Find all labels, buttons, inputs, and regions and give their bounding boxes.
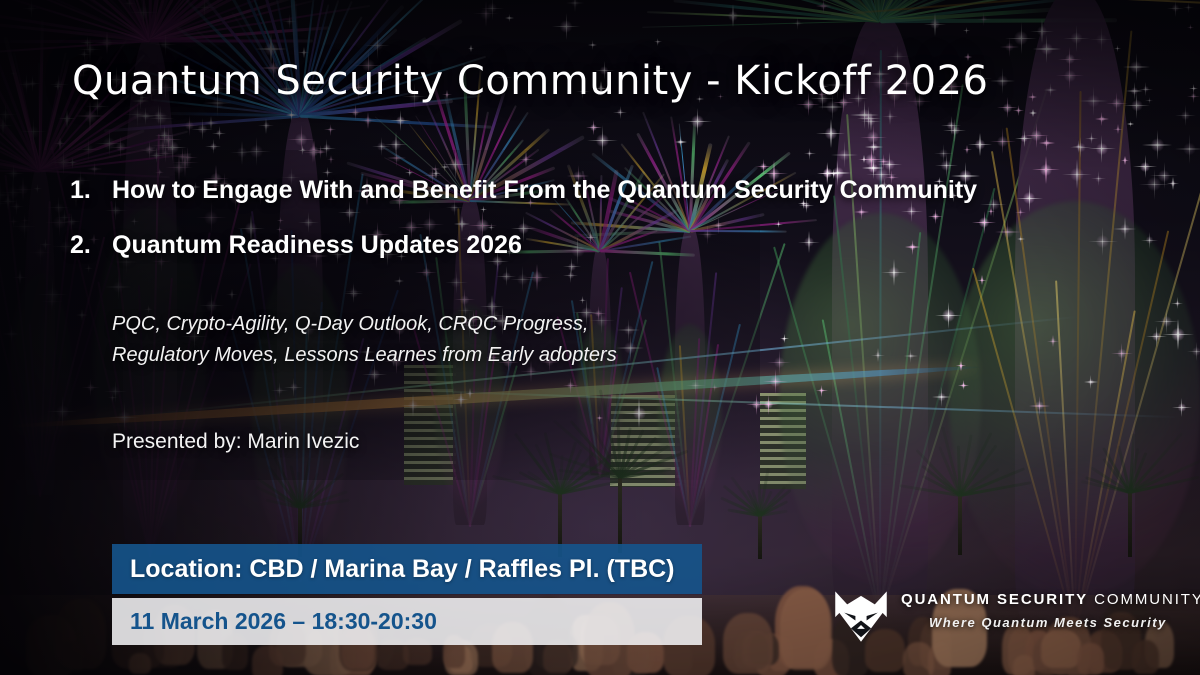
subtopics-line-1: PQC, Crypto-Agility, Q-Day Outlook, CRQC… <box>112 309 617 340</box>
agenda-list: 1. How to Engage With and Benefit From t… <box>70 176 1130 286</box>
logo-name-bold: QUANTUM SECURITY <box>901 591 1088 608</box>
logo-tagline: Where Quantum Meets Security <box>929 615 1200 630</box>
location-text: Location: CBD / Marina Bay / Raffles Pl.… <box>130 555 675 584</box>
agenda-subtopics: PQC, Crypto-Agility, Q-Day Outlook, CRQC… <box>112 309 617 371</box>
list-item-number: 2. <box>70 231 112 260</box>
presenter-credit: Presented by: Marin Ivezic <box>112 430 359 454</box>
logo-name-light: COMMUNITY <box>1094 591 1200 608</box>
presentation-slide: Quantum Security Community - Kickoff 202… <box>0 0 1200 675</box>
datetime-text: 11 March 2026 – 18:30-20:30 <box>130 608 437 635</box>
subtopics-line-2: Regulatory Moves, Lessons Learnes from E… <box>112 340 617 371</box>
list-item: 2. Quantum Readiness Updates 2026 <box>70 231 1130 260</box>
datetime-banner: 11 March 2026 – 18:30-20:30 <box>112 598 702 645</box>
wolf-head-icon <box>833 588 889 644</box>
list-item-number: 1. <box>70 176 112 205</box>
list-item-label: Quantum Readiness Updates 2026 <box>112 231 522 260</box>
page-title: Quantum Security Community - Kickoff 202… <box>72 58 988 104</box>
list-item: 1. How to Engage With and Benefit From t… <box>70 176 1130 205</box>
location-banner: Location: CBD / Marina Bay / Raffles Pl.… <box>112 544 702 594</box>
logo-wordmark: QUANTUM SECURITY COMMUNITY Where Quantum… <box>901 591 1200 630</box>
list-item-label: How to Engage With and Benefit From the … <box>112 176 977 205</box>
brand-logo: QUANTUM SECURITY COMMUNITY Where Quantum… <box>833 586 1195 648</box>
logo-name: QUANTUM SECURITY COMMUNITY <box>901 591 1200 608</box>
